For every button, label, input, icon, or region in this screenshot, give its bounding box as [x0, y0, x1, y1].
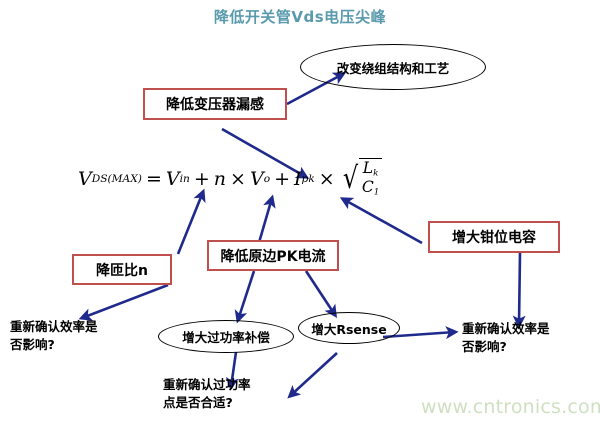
note-recheck-efficiency-right: 重新确认效率是 否影响?: [462, 320, 550, 356]
arrow-turnsratio-to-n: [178, 192, 203, 254]
arrow-primarypk-to-oppcomp: [238, 271, 254, 320]
node-increase-opp-comp[interactable]: 增大过功率补偿: [158, 320, 294, 353]
watermark: www.cntronics.com: [421, 396, 600, 418]
node-increase-rsense-label: 增大Rsense: [311, 319, 386, 338]
node-reduce-primary-pk-label: 降低原边PK电流: [220, 246, 325, 266]
formula-plus-1: +: [193, 168, 211, 190]
node-reduce-primary-pk[interactable]: 降低原边PK电流: [207, 240, 339, 271]
node-reduce-leakage-label: 降低变压器漏感: [166, 94, 264, 114]
formula-vo-sub: o: [264, 172, 270, 185]
formula-times-2: ×: [318, 168, 336, 190]
node-increase-clamp-cap-label: 增大钳位电容: [452, 227, 536, 247]
formula-vin-var: V: [166, 168, 180, 190]
formula-lhs-var: V: [78, 168, 92, 190]
arrow-primarypk-to-ipk: [258, 198, 272, 246]
formula-lk: Lk: [360, 160, 382, 179]
formula-plus-2: +: [273, 168, 291, 190]
formula-ipk-sub: pk: [302, 172, 315, 185]
formula-c1: C1: [359, 179, 382, 198]
diagram-canvas: 降低开关管Vds电压尖峰 降低变压器漏感 改变绕组结构和工艺 VDS(M: [0, 0, 600, 424]
formula-lhs-sub: DS(MAX): [92, 172, 142, 185]
node-change-winding-label: 改变绕组结构和工艺: [337, 58, 450, 77]
node-change-winding[interactable]: 改变绕组结构和工艺: [300, 44, 486, 90]
node-reduce-turns-ratio-label: 降匝比n: [96, 260, 148, 280]
formula-vo-var: V: [250, 168, 264, 190]
formula-fraction: Lk C1: [359, 158, 382, 197]
arrow-clampcap-to-c1: [343, 199, 422, 243]
formula-vds-max: VDS(MAX) = Vin + n × Vo + Ipk × √ Lk C1: [78, 160, 382, 197]
arrow-turnsratio-to-efficiency-left: [82, 285, 168, 318]
node-increase-rsense[interactable]: 增大Rsense: [298, 312, 400, 344]
formula-times-1: ×: [229, 168, 247, 190]
formula-n: n: [214, 168, 226, 190]
arrow-primarypk-to-rsense: [306, 271, 335, 315]
node-reduce-turns-ratio[interactable]: 降匝比n: [72, 254, 172, 285]
formula-equals: =: [145, 168, 163, 190]
radical-sign-icon: √: [343, 170, 358, 188]
node-increase-opp-comp-label: 增大过功率补偿: [182, 327, 270, 346]
formula-ipk-var: I: [294, 168, 302, 190]
note-recheck-efficiency-left: 重新确认效率是 否影响?: [10, 318, 98, 354]
node-increase-clamp-cap[interactable]: 增大钳位电容: [428, 221, 560, 253]
arrow-clampcap-to-efficiency-right: [519, 253, 520, 325]
note-recheck-opp-point: 重新确认过功率 点是否合适?: [163, 376, 251, 412]
formula-radical: √ Lk C1: [341, 160, 383, 197]
node-reduce-leakage[interactable]: 降低变压器漏感: [143, 88, 287, 120]
arrow-rsense-to-opppoint: [290, 353, 337, 396]
formula-vin-sub: in: [180, 172, 190, 185]
